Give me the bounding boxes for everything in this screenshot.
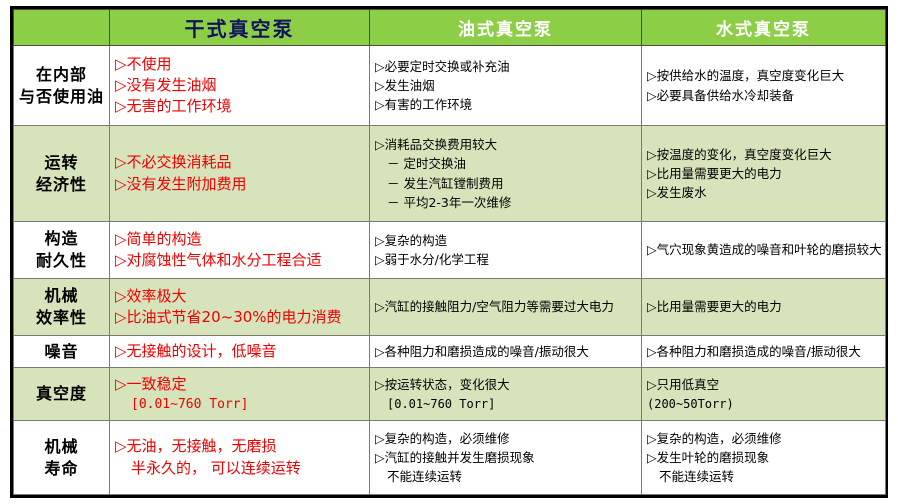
cell-line: ▷复杂的构造: [375, 231, 636, 250]
cell-dry: ▷不使用 ▷没有发生油烟 ▷无害的工作环境: [110, 46, 370, 126]
cell-line: ▷汽缸的接触阻力/空气阻力等需要过大电力: [375, 297, 636, 316]
cell-water: ▷气穴现象黄造成的噪音和叶轮的磨损较大: [642, 222, 886, 279]
cell-subline: 半永久的， 可以连续运转: [115, 458, 364, 479]
row-label-line1: 噪音: [19, 341, 104, 363]
cell-subline: － 平均2-3年一次维修: [375, 193, 636, 212]
row-label-line1: 机械: [19, 436, 104, 458]
row-label-oil-usage: 在内部 与否使用油: [14, 46, 110, 126]
cell-line: ▷简单的构造: [115, 229, 364, 250]
cell-dry: ▷效率极大 ▷比油式节省20~30%的电力消费: [110, 278, 370, 335]
cell-dry: ▷不必交换消耗品 ▷没有发生附加费用: [110, 126, 370, 222]
cell-line: ▷无接触的设计，低噪音: [115, 341, 364, 362]
table-row: 真空度 ▷一致稳定 [0.01~760 Torr] ▷按运转状态，变化很大 [0…: [14, 368, 886, 421]
cell-oil: ▷消耗品交换费用较大 － 定时交换油 － 发生汽缸镗制费用 － 平均2-3年一次…: [370, 126, 642, 222]
header-cell-oil: 油式真空泵: [370, 10, 642, 46]
cell-line: ▷比用量需要更大的电力: [647, 164, 880, 183]
cell-line: ▷发生废水: [647, 183, 880, 202]
cell-line: ▷复杂的构造，必须维修: [375, 429, 636, 448]
cell-line: ▷对腐蚀性气体和水分工程合适: [115, 250, 364, 271]
cell-line: ▷比用量需要更大的电力: [647, 297, 880, 316]
cell-subline: 不能连续运转: [647, 467, 880, 486]
header-label-dry: 干式真空泵: [185, 17, 295, 41]
cell-line: ▷气穴现象黄造成的噪音和叶轮的磨损较大: [647, 240, 880, 259]
header-corner-cell: [14, 10, 110, 46]
cell-oil: ▷按运转状态，变化很大 [0.01~760 Torr]: [370, 368, 642, 421]
cell-value-range: [0.01~760 Torr]: [375, 395, 636, 414]
cell-line: ▷发生油烟: [375, 76, 636, 95]
cell-water: ▷按温度的变化，真空度变化巨大 ▷比用量需要更大的电力 ▷发生废水: [642, 126, 886, 222]
cell-line: ▷只用低真空: [647, 375, 880, 394]
row-label-line2: 经济性: [19, 174, 104, 196]
cell-line: ▷各种阻力和磨损造成的噪音/振动很大: [647, 342, 880, 361]
row-label-line1: 真空度: [19, 383, 104, 405]
cell-line: ▷无害的工作环境: [115, 96, 364, 117]
cell-line: ▷消耗品交换费用较大: [375, 135, 636, 154]
cell-line: ▷一致稳定: [115, 374, 364, 395]
cell-line: ▷无油，无接触，无磨损: [115, 436, 364, 457]
row-label-noise: 噪音: [14, 335, 110, 367]
cell-oil: ▷汽缸的接触阻力/空气阻力等需要过大电力: [370, 278, 642, 335]
table-row: 在内部 与否使用油 ▷不使用 ▷没有发生油烟 ▷无害的工作环境 ▷必要定时交换或…: [14, 46, 886, 126]
row-label-vacuum-degree: 真空度: [14, 368, 110, 421]
cell-line: ▷没有发生附加费用: [115, 174, 364, 195]
cell-line: ▷没有发生油烟: [115, 75, 364, 96]
cell-line: ▷比油式节省20~30%的电力消费: [115, 307, 364, 328]
cell-subline: 不能连续运转: [375, 467, 636, 486]
header-label-oil: 油式真空泵: [458, 20, 553, 40]
cell-line: ▷必要定时交换或补充油: [375, 57, 636, 76]
table-row: 机械 寿命 ▷无油，无接触，无磨损 半永久的， 可以连续运转 ▷复杂的构造，必须…: [14, 421, 886, 495]
cell-oil: ▷复杂的构造 ▷弱于水分/化学工程: [370, 222, 642, 279]
cell-line: ▷不必交换消耗品: [115, 152, 364, 173]
row-label-line1: 运转: [19, 152, 104, 174]
table-header-row: 干式真空泵 油式真空泵 水式真空泵: [14, 10, 886, 46]
cell-line: ▷必要具备供给水冷却装备: [647, 86, 880, 105]
row-label-line2: 耐久性: [19, 250, 104, 272]
row-label-line2: 与否使用油: [19, 86, 104, 108]
cell-water: ▷按供给水的温度，真空度变化巨大 ▷必要具备供给水冷却装备: [642, 46, 886, 126]
cell-water: ▷复杂的构造，必须维修 ▷发生叶轮的磨损现象 不能连续运转: [642, 421, 886, 495]
table-row: 机械 效率性 ▷效率极大 ▷比油式节省20~30%的电力消费 ▷汽缸的接触阻力/…: [14, 278, 886, 335]
cell-dry: ▷无油，无接触，无磨损 半永久的， 可以连续运转: [110, 421, 370, 495]
row-label-structure: 构造 耐久性: [14, 222, 110, 279]
cell-dry: ▷无接触的设计，低噪音: [110, 335, 370, 367]
cell-line: ▷效率极大: [115, 286, 364, 307]
cell-oil: ▷必要定时交换或补充油 ▷发生油烟 ▷有害的工作环境: [370, 46, 642, 126]
cell-oil: ▷各种阻力和磨损造成的噪音/振动很大: [370, 335, 642, 367]
row-label-line2: 效率性: [19, 307, 104, 329]
comparison-table-frame: 干式真空泵 油式真空泵 水式真空泵 在内部 与否使用油 ▷不使用 ▷没有发生油烟: [10, 6, 888, 498]
table-row: 运转 经济性 ▷不必交换消耗品 ▷没有发生附加费用 ▷消耗品交换费用较大 － 定…: [14, 126, 886, 222]
row-label-lifetime: 机械 寿命: [14, 421, 110, 495]
cell-line: ▷弱于水分/化学工程: [375, 250, 636, 269]
table-row: 噪音 ▷无接触的设计，低噪音 ▷各种阻力和磨损造成的噪音/振动很大 ▷各种阻力和…: [14, 335, 886, 367]
cell-dry: ▷简单的构造 ▷对腐蚀性气体和水分工程合适: [110, 222, 370, 279]
cell-line: ▷有害的工作环境: [375, 95, 636, 114]
cell-subline: － 发生汽缸镗制费用: [375, 174, 636, 193]
table-row: 构造 耐久性 ▷简单的构造 ▷对腐蚀性气体和水分工程合适 ▷复杂的构造 ▷弱于水…: [14, 222, 886, 279]
cell-line: ▷发生叶轮的磨损现象: [647, 448, 880, 467]
header-label-water: 水式真空泵: [716, 20, 811, 40]
cell-water: ▷比用量需要更大的电力: [642, 278, 886, 335]
cell-line: ▷按温度的变化，真空度变化巨大: [647, 145, 880, 164]
cell-line: ▷复杂的构造，必须维修: [647, 429, 880, 448]
cell-oil: ▷复杂的构造，必须维修 ▷汽缸的接触并发生磨损现象 不能连续运转: [370, 421, 642, 495]
cell-subline: － 定时交换油: [375, 154, 636, 173]
row-label-efficiency: 机械 效率性: [14, 278, 110, 335]
row-label-economy: 运转 经济性: [14, 126, 110, 222]
row-label-line1: 构造: [19, 228, 104, 250]
row-label-line1: 机械: [19, 285, 104, 307]
header-cell-dry: 干式真空泵: [110, 10, 370, 46]
cell-line: ▷汽缸的接触并发生磨损现象: [375, 448, 636, 467]
cell-water: ▷只用低真空 (200~50Torr): [642, 368, 886, 421]
row-label-line1: 在内部: [19, 64, 104, 86]
cell-value-range: (200~50Torr): [647, 395, 880, 414]
cell-dry: ▷一致稳定 [0.01~760 Torr]: [110, 368, 370, 421]
cell-water: ▷各种阻力和磨损造成的噪音/振动很大: [642, 335, 886, 367]
cell-line: ▷按供给水的温度，真空度变化巨大: [647, 66, 880, 85]
cell-line: ▷各种阻力和磨损造成的噪音/振动很大: [375, 342, 636, 361]
cell-line: ▷不使用: [115, 54, 364, 75]
row-label-line2: 寿命: [19, 458, 104, 480]
vacuum-pump-comparison-table: 干式真空泵 油式真空泵 水式真空泵 在内部 与否使用油 ▷不使用 ▷没有发生油烟: [13, 9, 886, 495]
header-cell-water: 水式真空泵: [642, 10, 886, 46]
cell-line: ▷按运转状态，变化很大: [375, 375, 636, 394]
cell-value-range: [0.01~760 Torr]: [115, 396, 364, 414]
